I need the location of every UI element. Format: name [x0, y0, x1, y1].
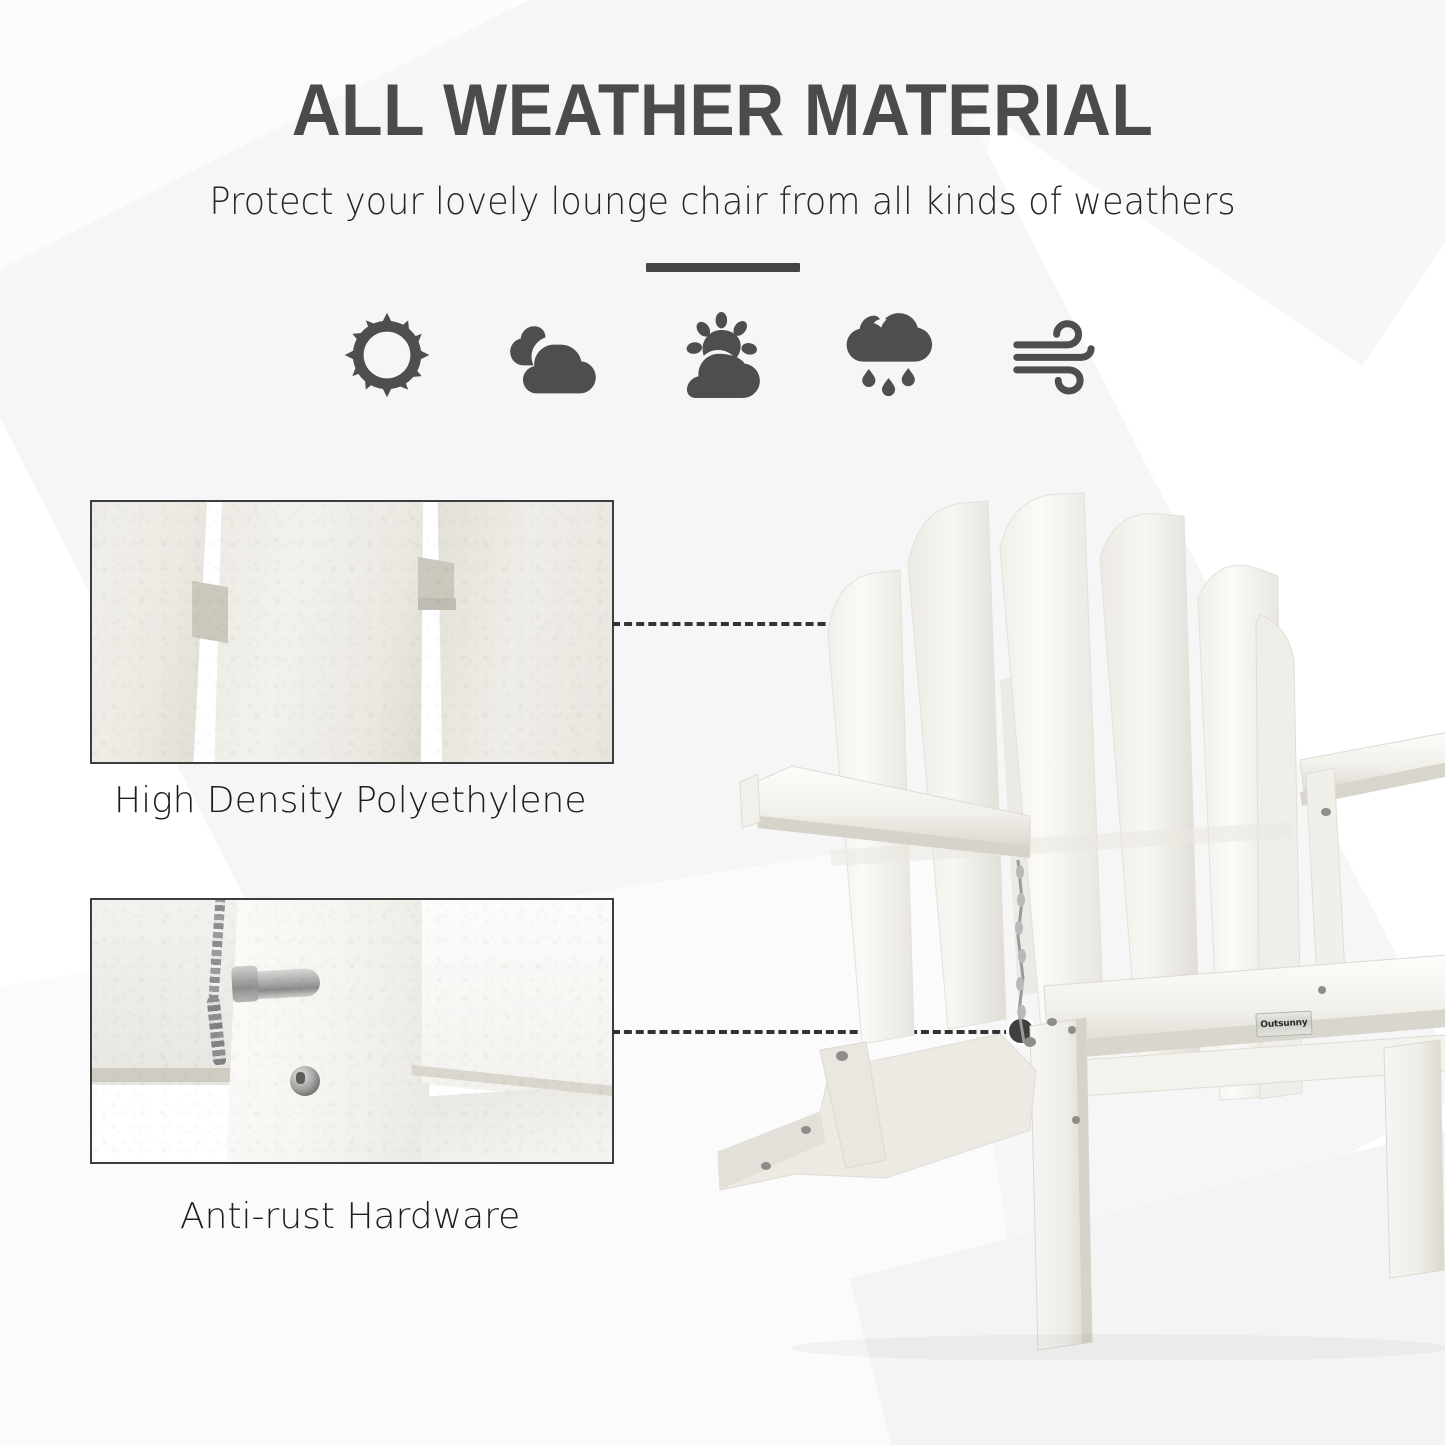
partly-cloudy-icon	[669, 305, 777, 405]
callout-caption-hdpe: High Density Polyethylene	[114, 780, 587, 821]
callout-photo-hdpe	[90, 500, 614, 764]
infographic-canvas: ALL WEATHER MATERIAL Protect your lovely…	[0, 0, 1445, 1445]
page-subtitle: Protect your lovely lounge chair from al…	[36, 180, 1409, 224]
sun-icon	[333, 305, 441, 405]
hardware-photo	[92, 900, 612, 1162]
brand-label-plate: Outsunny	[1255, 1011, 1312, 1038]
wind-icon	[1005, 305, 1113, 405]
brand-label-text: Outsunny	[1260, 1018, 1308, 1030]
page-title: ALL WEATHER MATERIAL	[51, 74, 1395, 147]
rain-cloud-icon	[837, 305, 945, 405]
callout-photo-hardware	[90, 898, 614, 1164]
cloudy-icon	[501, 305, 609, 405]
title-divider	[646, 263, 800, 272]
hdpe-photo	[92, 502, 612, 762]
callout-caption-hardware: Anti-rust Hardware	[180, 1196, 520, 1237]
weather-icon-row	[0, 300, 1445, 410]
product-image-adirondack-chair	[700, 430, 1445, 1360]
